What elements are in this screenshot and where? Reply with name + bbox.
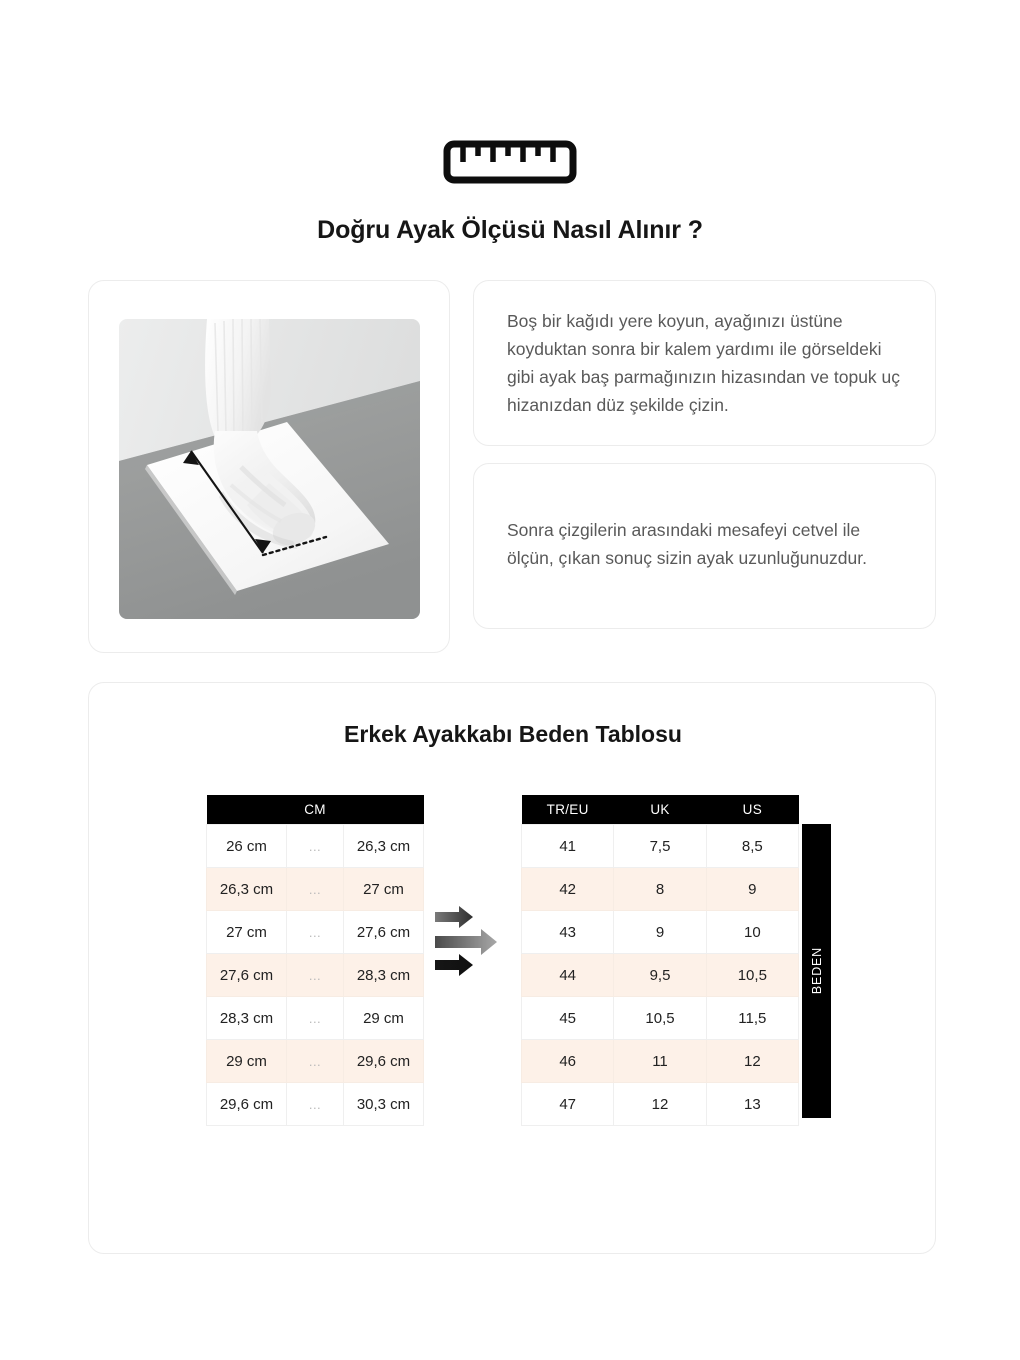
cm-from: 27,6 cm	[207, 954, 287, 997]
size-tr-eu: 44	[522, 954, 614, 997]
size-uk: 12	[614, 1083, 706, 1126]
size-conversion-row: 4510,511,5	[522, 997, 799, 1040]
size-uk: 9,5	[614, 954, 706, 997]
cm-separator: ...	[287, 1083, 344, 1126]
cm-table-row: 28,3 cm...29 cm	[207, 997, 424, 1040]
cm-table-row: 27 cm...27,6 cm	[207, 911, 424, 954]
size-table-title: Erkek Ayakkabı Beden Tablosu	[89, 721, 937, 748]
photo-card	[88, 280, 450, 653]
cm-table-row: 26 cm...26,3 cm	[207, 825, 424, 868]
size-conversion-header-tr-eu: TR/EU	[522, 795, 614, 825]
cm-to: 28,3 cm	[344, 954, 424, 997]
cm-table-header-row: CM	[207, 795, 424, 825]
size-uk: 8	[614, 868, 706, 911]
size-uk: 11	[614, 1040, 706, 1083]
beden-vertical-label: BEDEN	[802, 824, 831, 1118]
cm-from: 29,6 cm	[207, 1083, 287, 1126]
size-conversion-table: TR/EUUKUS 417,58,5428943910449,510,54510…	[521, 795, 799, 1126]
cm-separator: ...	[287, 868, 344, 911]
size-us: 10	[706, 911, 798, 954]
size-conversion-header-us: US	[706, 795, 798, 825]
cm-from: 26 cm	[207, 825, 287, 868]
size-conversion-row: 471213	[522, 1083, 799, 1126]
cm-separator: ...	[287, 911, 344, 954]
cm-table: CM 26 cm...26,3 cm26,3 cm...27 cm27 cm..…	[206, 795, 424, 1126]
size-conversion-row: 43910	[522, 911, 799, 954]
size-us: 9	[706, 868, 798, 911]
instruction-text-2: Sonra çizgilerin arasındaki mesafeyi cet…	[507, 516, 907, 572]
cm-table-body: 26 cm...26,3 cm26,3 cm...27 cm27 cm...27…	[207, 825, 424, 1126]
size-us: 13	[706, 1083, 798, 1126]
size-uk: 10,5	[614, 997, 706, 1040]
size-tr-eu: 45	[522, 997, 614, 1040]
cm-separator: ...	[287, 1040, 344, 1083]
cm-to: 29,6 cm	[344, 1040, 424, 1083]
size-us: 10,5	[706, 954, 798, 997]
size-tr-eu: 43	[522, 911, 614, 954]
cm-table-row: 29,6 cm...30,3 cm	[207, 1083, 424, 1126]
cm-from: 26,3 cm	[207, 868, 287, 911]
size-conversion-row: 417,58,5	[522, 825, 799, 868]
arrow-group	[433, 902, 515, 984]
size-conversion-body: 417,58,5428943910449,510,54510,511,54611…	[522, 825, 799, 1126]
cm-to: 29 cm	[344, 997, 424, 1040]
cm-separator: ...	[287, 954, 344, 997]
size-table-card: Erkek Ayakkabı Beden Tablosu CM 26 cm...…	[88, 682, 936, 1254]
arrow-right-icon-3	[435, 954, 473, 976]
size-tr-eu: 47	[522, 1083, 614, 1126]
size-uk: 9	[614, 911, 706, 954]
cm-to: 27,6 cm	[344, 911, 424, 954]
cm-table-row: 27,6 cm...28,3 cm	[207, 954, 424, 997]
cm-to: 27 cm	[344, 868, 424, 911]
cm-separator: ...	[287, 997, 344, 1040]
arrow-right-icon-1	[435, 906, 473, 928]
size-conversion-row: 449,510,5	[522, 954, 799, 997]
cm-table-row: 29 cm...29,6 cm	[207, 1040, 424, 1083]
cm-to: 30,3 cm	[344, 1083, 424, 1126]
size-uk: 7,5	[614, 825, 706, 868]
size-conversion-header-row: TR/EUUKUS	[522, 795, 799, 825]
size-us: 12	[706, 1040, 798, 1083]
cm-table-row: 26,3 cm...27 cm	[207, 868, 424, 911]
cm-from: 27 cm	[207, 911, 287, 954]
foot-measurement-photo	[119, 319, 420, 619]
page-title: Doğru Ayak Ölçüsü Nasıl Alınır ?	[0, 216, 1020, 245]
cm-separator: ...	[287, 825, 344, 868]
cm-from: 28,3 cm	[207, 997, 287, 1040]
cm-to: 26,3 cm	[344, 825, 424, 868]
ruler-icon-container	[0, 140, 1020, 184]
size-conversion-row: 461112	[522, 1040, 799, 1083]
arrow-right-icon-2	[435, 929, 497, 955]
size-tr-eu: 42	[522, 868, 614, 911]
beden-label-text: BEDEN	[810, 947, 824, 994]
size-us: 8,5	[706, 825, 798, 868]
instruction-card-1: Boş bir kağıdı yere koyun, ayağınızı üst…	[473, 280, 936, 446]
cm-from: 29 cm	[207, 1040, 287, 1083]
cm-table-header: CM	[207, 795, 424, 825]
size-tr-eu: 46	[522, 1040, 614, 1083]
instruction-card-2: Sonra çizgilerin arasındaki mesafeyi cet…	[473, 463, 936, 629]
instruction-text-1: Boş bir kağıdı yere koyun, ayağınızı üst…	[507, 307, 907, 419]
size-conversion-header-uk: UK	[614, 795, 706, 825]
size-conversion-row: 4289	[522, 868, 799, 911]
ruler-icon	[443, 140, 577, 184]
size-us: 11,5	[706, 997, 798, 1040]
size-tr-eu: 41	[522, 825, 614, 868]
